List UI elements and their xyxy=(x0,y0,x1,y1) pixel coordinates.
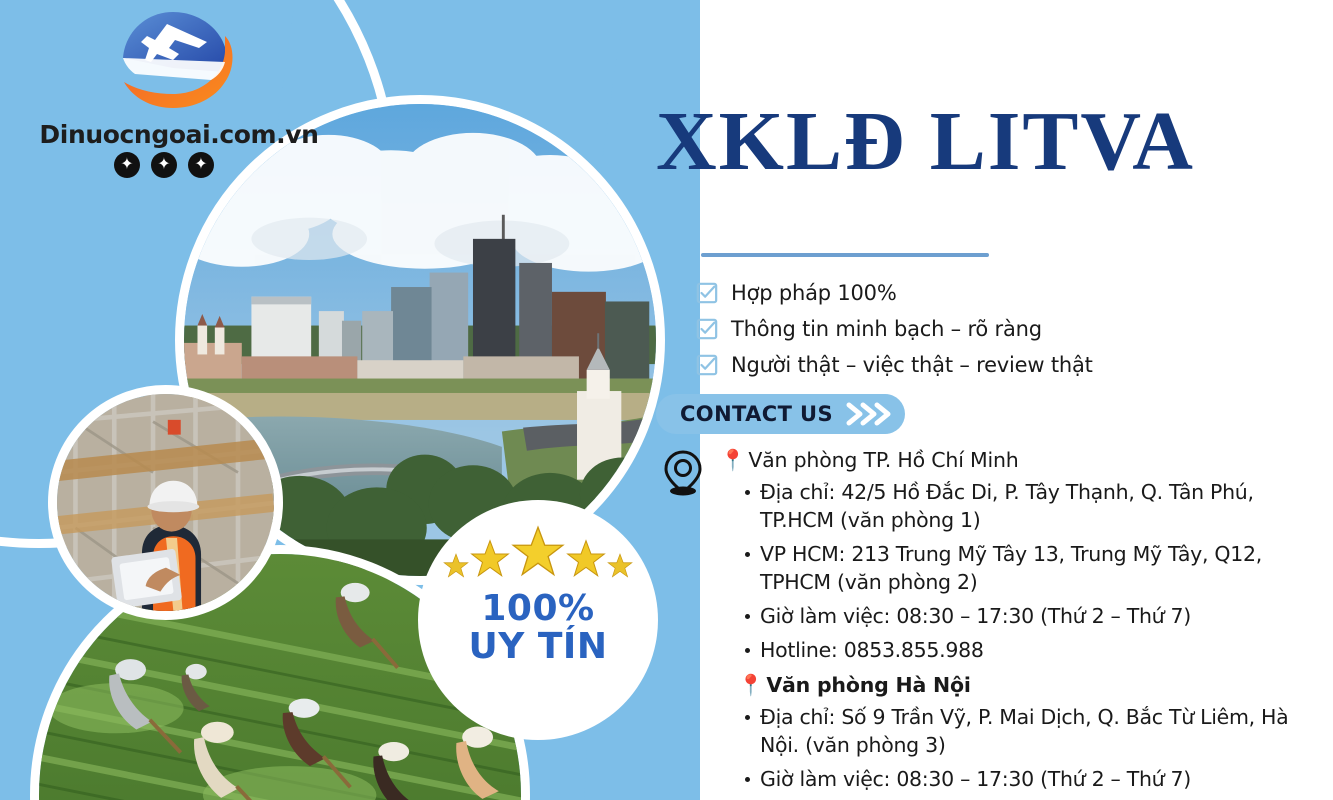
star-badge-icon xyxy=(188,152,214,178)
pushpin-icon: 📍 xyxy=(738,673,763,697)
rating-word: UY TÍN xyxy=(469,628,608,666)
office-heading: 📍Văn phòng TP. Hồ Chí Minh xyxy=(720,448,1320,473)
double-chevron-right-icon xyxy=(845,401,891,427)
title-divider xyxy=(701,253,989,257)
logo-star-badges xyxy=(114,152,214,178)
star-icon xyxy=(566,539,606,584)
star-badge-icon xyxy=(151,152,177,178)
office-name: Văn phòng Hà Nội xyxy=(766,673,970,697)
checkbox-checked-icon xyxy=(696,354,718,376)
list-item: Giờ làm việc: 08:30 – 17:30 (Thứ 2 – Thứ… xyxy=(738,765,1320,793)
rating-label: 100% UY TÍN xyxy=(469,590,608,666)
list-item: Hợp pháp 100% xyxy=(696,275,1316,311)
office-heading: 📍Văn phòng Hà Nội xyxy=(738,673,1320,698)
feature-list: Hợp pháp 100% Thông tin minh bạch – rõ r… xyxy=(696,275,1316,383)
feature-label: Người thật – việc thật – review thật xyxy=(731,353,1093,377)
star-rating xyxy=(443,526,633,584)
star-icon xyxy=(511,525,565,584)
feature-label: Thông tin minh bạch – rõ ràng xyxy=(731,317,1042,341)
list-item: Địa chỉ: Số 9 Trần Vỹ, P. Mai Dịch, Q. B… xyxy=(738,703,1320,759)
brand-logo[interactable]: Dinuocngoai.com.vn xyxy=(56,6,296,176)
page-title: XKLĐ LITVA xyxy=(656,100,1316,184)
brand-name: Dinuocngoai.com.vn xyxy=(34,120,324,149)
feature-label: Hợp pháp 100% xyxy=(731,281,897,305)
construction-worker-photo xyxy=(48,385,283,620)
checkbox-checked-icon xyxy=(696,318,718,340)
list-item: Hotline: 0853.855.988 xyxy=(738,636,1320,664)
trust-rating-badge: 100% UY TÍN xyxy=(418,500,658,740)
list-item: Người thật – việc thật – review thật xyxy=(696,347,1316,383)
checkbox-checked-icon xyxy=(696,282,718,304)
contact-us-label: CONTACT US xyxy=(680,402,833,426)
star-badge-icon xyxy=(114,152,140,178)
poster-canvas: Dinuocngoai.com.vn xyxy=(0,0,1333,800)
content-column: XKLĐ LITVA Hợp pháp 100% Thông tin minh … xyxy=(648,0,1333,800)
map-pin-icon xyxy=(661,450,705,496)
list-item: Giờ làm việc: 08:30 – 17:30 (Thứ 2 – Thứ… xyxy=(738,602,1320,630)
contact-us-button[interactable]: CONTACT US xyxy=(656,394,905,434)
contact-details: 📍Văn phòng TP. Hồ Chí Minh Địa chỉ: 42/5… xyxy=(720,448,1320,800)
globe-airplane-icon xyxy=(111,6,236,116)
star-icon xyxy=(443,553,469,584)
rating-percent: 100% xyxy=(469,590,608,628)
office-name: Văn phòng TP. Hồ Chí Minh xyxy=(748,448,1018,472)
pushpin-icon: 📍 xyxy=(720,448,745,472)
star-icon xyxy=(470,539,510,584)
star-icon xyxy=(607,553,633,584)
list-item: VP HCM: 213 Trung Mỹ Tây 13, Trung Mỹ Tâ… xyxy=(738,540,1320,596)
list-item: Địa chỉ: 42/5 Hồ Đắc Di, P. Tây Thạnh, Q… xyxy=(738,478,1320,534)
list-item: Thông tin minh bạch – rõ ràng xyxy=(696,311,1316,347)
